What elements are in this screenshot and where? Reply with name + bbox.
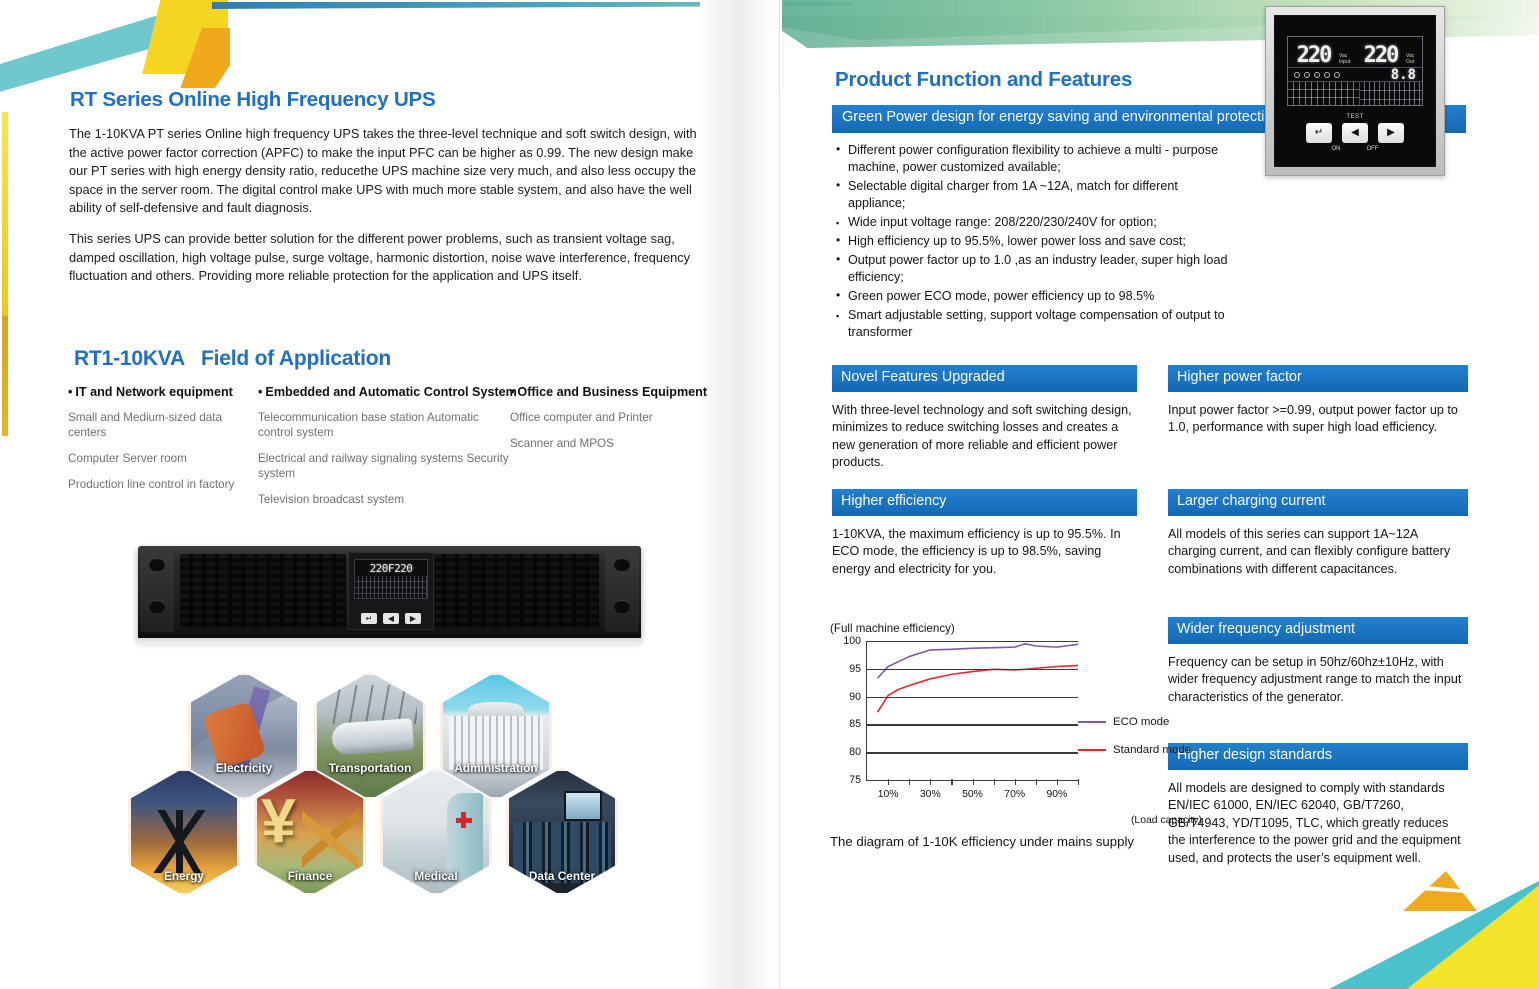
chart-gridline [867, 697, 1078, 698]
chart-x-tick [1036, 779, 1037, 785]
lcd-output-voltage: 220 [1355, 45, 1406, 67]
page-title-left: RT Series Online High Frequency UPS [70, 88, 436, 112]
lcd-input-unit-label: VacInput [1339, 54, 1355, 67]
lcd-status-dot-icon [1324, 72, 1330, 78]
application-column-heading-text: IT and Network equipment [75, 385, 232, 399]
chart-x-tick [994, 779, 995, 785]
chart-legend-item: ECO mode [1078, 716, 1198, 728]
chart-legend-swatch [1078, 749, 1106, 751]
chart-gridline [867, 641, 1078, 642]
lcd-left-button[interactable]: ◀ [1342, 123, 1368, 143]
green-power-bullet: High efficiency up to 95.5%, lower power… [835, 233, 1235, 250]
government-building-photo-icon [443, 675, 549, 797]
lcd-status-dot-icon [1314, 72, 1320, 78]
ups-lcd-panel-image: 220 VacInput 220 VacOut 8.8 [1265, 6, 1445, 176]
feature-box-body: Frequency can be setup in 50hz/60hz±10Hz… [1168, 654, 1468, 707]
chart-legend-swatch [1078, 721, 1106, 723]
chart-title: (Full machine efficiency) [830, 622, 1140, 635]
application-column-heading-text: Embedded and Automatic Control System [265, 385, 516, 399]
application-column-heading-text: Office and Business Equipment [517, 385, 707, 399]
intro-paragraph-2: This series UPS can provide better solut… [69, 230, 709, 286]
application-model: RT1-10KVA [74, 347, 185, 370]
rack-lcd-value-right: 220 [394, 562, 412, 575]
chart-gridline [867, 752, 1078, 753]
feature-box-body: Input power factor >=0.99, output power … [1168, 402, 1468, 437]
lcd-button-row: ↵ ◀ ▶ [1275, 123, 1435, 143]
brochure-page: RT Series Online High Frequency UPS The … [0, 0, 1539, 989]
chart-x-tick [1015, 779, 1016, 785]
lcd-load-bars-icon [1360, 82, 1422, 105]
feature-box-body: All models of this series can support 1A… [1168, 526, 1468, 579]
chart-y-tick-label: 100 [831, 635, 861, 647]
feature-box-title: Wider frequency adjustment [1168, 617, 1468, 644]
lcd-right-button[interactable]: ▶ [1378, 123, 1404, 143]
chart-caption: The diagram of 1-10K efficiency under ma… [830, 834, 1140, 849]
lcd-flow-diagram [1288, 81, 1422, 105]
feature-box-title: Higher efficiency [832, 489, 1137, 516]
application-item: Telecommunication base station Automatic… [258, 410, 510, 440]
hex-tile-label: Administration [443, 761, 549, 775]
hex-tile-label: Electricity [191, 761, 297, 775]
lcd-output-unit-label: VacOut [1406, 54, 1422, 67]
application-item: Small and Medium-sized data centers [68, 410, 258, 440]
chart-x-tick-label: 50% [962, 789, 983, 800]
chart-y-tick-label: 90 [831, 691, 861, 703]
application-item: Computer Server room [68, 451, 258, 466]
green-power-bullet: Smart adjustable setting, support voltag… [835, 307, 1235, 341]
rack-left-button[interactable]: ◀ [383, 613, 399, 624]
feature-box-larger-charging-current: Larger charging current All models of th… [1168, 489, 1468, 578]
high-speed-train-photo-icon [317, 675, 423, 797]
rack-vent-grille-right [433, 554, 599, 628]
chart-legend-item: Standard mode [1078, 744, 1198, 756]
chart-x-tick-label: 90% [1046, 789, 1067, 800]
feature-box-higher-design-standards: Higher design standards All models are d… [1168, 743, 1468, 867]
application-column-heading: •IT and Network equipment [68, 385, 258, 399]
chart-x-axis-title: (Load capacity) [1131, 815, 1202, 826]
factory-robot-photo-icon [191, 675, 297, 797]
application-column-it: •IT and Network equipment Small and Medi… [68, 385, 258, 518]
chart-y-tick-label: 80 [831, 746, 861, 758]
chart-y-tick-label: 95 [831, 663, 861, 675]
application-column-office: •Office and Business Equipment Office co… [510, 385, 710, 518]
chart-plot-wrapper: 758085909510010%30%50%70%90% ECO modeSta… [830, 641, 1140, 806]
green-power-bullet: Output power factor up to 1.0 ,as an ind… [835, 252, 1235, 286]
right-page: Product Function and Features Green Powe… [780, 0, 1539, 989]
application-item: Scanner and MPOS [510, 436, 710, 451]
chart-x-tick-label: 10% [878, 789, 899, 800]
bullet-dot-icon: • [258, 385, 262, 399]
lcd-panel-bezel: 220 VacInput 220 VacOut 8.8 [1265, 6, 1445, 176]
chart-legend-label: Standard mode [1113, 744, 1191, 756]
application-image-gallery: Electricity Transportation Administratio… [128, 668, 656, 920]
chart-series-line [878, 644, 1078, 678]
feature-box-title: Novel Features Upgraded [832, 365, 1137, 392]
rack-mount-ear-left [140, 548, 174, 632]
lcd-status-dot-icon [1294, 72, 1300, 78]
chart-x-tick [973, 779, 974, 785]
chart-gridline [867, 724, 1078, 725]
lcd-display: 220 VacInput 220 VacOut 8.8 [1287, 36, 1423, 106]
feature-box-body: With three-level technology and soft swi… [832, 402, 1137, 472]
lcd-onoff-labels: ON OFF [1275, 146, 1435, 152]
application-columns: •IT and Network equipment Small and Medi… [68, 385, 713, 518]
chart-x-tick [888, 779, 889, 785]
rack-right-button[interactable]: ▶ [405, 613, 421, 624]
chart-plot-area: 758085909510010%30%50%70%90% [866, 641, 1078, 781]
chart-legend: ECO modeStandard mode [1078, 716, 1198, 772]
chart-series-svg [867, 641, 1078, 780]
chart-x-tick [930, 779, 931, 785]
application-heading: RT1-10KVAField of Application [74, 347, 391, 371]
efficiency-chart-block: (Full machine efficiency) 75808590951001… [830, 622, 1140, 849]
lcd-power-path-icon [1288, 82, 1360, 105]
feature-box-body: All models are designed to comply with s… [1168, 780, 1468, 868]
chart-x-tick [951, 779, 952, 785]
hex-tile-label: Finance [257, 869, 363, 883]
rack-lcd-value-left: 220F [370, 562, 395, 575]
lcd-test-label: TEST [1275, 114, 1435, 120]
lcd-off-label: OFF [1367, 146, 1379, 152]
intro-paragraph-1: The 1-10KVA PT series Online high freque… [69, 125, 709, 218]
left-page: RT Series Online High Frequency UPS The … [0, 0, 700, 989]
chart-gridline [867, 669, 1078, 670]
hex-tile-label: Transportation [317, 761, 423, 775]
bullet-dot-icon: • [68, 385, 72, 399]
rack-screw-hole [149, 558, 165, 571]
feature-box-novel-features: Novel Features Upgraded With three-level… [832, 365, 1137, 472]
rack-lcd-digits: 220F220 [355, 560, 427, 575]
application-item: Production line control in factory [68, 477, 258, 492]
rack-screw-hole [614, 558, 630, 571]
application-column-heading: •Embedded and Automatic Control System [258, 385, 510, 399]
feature-box-title: Larger charging current [1168, 489, 1468, 516]
bullet-dot-icon: • [510, 385, 514, 399]
chart-y-tick-label: 85 [831, 718, 861, 730]
chart-y-tick-label: 75 [831, 774, 861, 786]
rack-base-plinth [138, 638, 641, 645]
lcd-status-dot-icon [1304, 72, 1310, 78]
application-column-embedded: •Embedded and Automatic Control System T… [258, 385, 510, 518]
feature-box-higher-power-factor: Higher power factor Input power factor >… [1168, 365, 1468, 437]
chart-x-tick [909, 779, 910, 785]
rack-mount-ear-right [605, 548, 639, 632]
lcd-control-area: TEST ↵ ◀ ▶ ON OFF [1275, 114, 1435, 152]
lcd-on-label: ON [1332, 146, 1341, 152]
application-title-text: Field of Application [201, 347, 391, 370]
application-item: Television broadcast system [258, 492, 510, 507]
lcd-input-voltage: 220 [1288, 45, 1339, 67]
feature-box-higher-efficiency: Higher efficiency 1-10KVA, the maximum e… [832, 489, 1137, 578]
feature-box-body: 1-10KVA, the maximum efficiency is up to… [832, 526, 1137, 579]
rack-button-row: ↵ ◀ ▶ [355, 613, 427, 624]
rack-screw-hole [614, 600, 630, 613]
green-power-bullet: Wide input voltage range: 208/220/230/24… [835, 214, 1235, 231]
rack-lcd-screen: 220F220 [354, 559, 428, 599]
chart-x-tick [1078, 779, 1079, 785]
chart-x-tick-label: 70% [1004, 789, 1025, 800]
application-column-heading: •Office and Business Equipment [510, 385, 710, 399]
feature-box-title: Higher design standards [1168, 743, 1468, 770]
green-power-bullet-list: Different power configuration flexibilit… [835, 142, 1235, 343]
lcd-panel-face: 220 VacInput 220 VacOut 8.8 [1274, 15, 1436, 167]
ups-rack-product-image: 220F220 ↵ ◀ ▶ [138, 546, 641, 640]
lcd-status-dot-icon [1334, 72, 1340, 78]
hex-tile-label: Energy [131, 869, 237, 883]
hex-tile-label: Medical [383, 869, 489, 883]
chart-x-tick-label: 30% [920, 789, 941, 800]
rack-enter-button[interactable]: ↵ [361, 613, 377, 624]
lcd-enter-button[interactable]: ↵ [1306, 123, 1332, 143]
hex-tile-data-center: Data Center [506, 768, 618, 896]
feature-box-wider-frequency-adjustment: Wider frequency adjustment Frequency can… [1168, 617, 1468, 706]
chart-series-line [878, 665, 1078, 712]
chart-x-tick [1057, 779, 1058, 785]
chart-legend-label: ECO mode [1113, 716, 1169, 728]
rack-control-panel: 220F220 ↵ ◀ ▶ [348, 552, 434, 630]
application-item: Electrical and railway signaling systems… [258, 451, 510, 481]
green-power-bullet: Selectable digital charger from 1A ~12A,… [835, 178, 1235, 212]
rack-lcd-status-icons [355, 576, 427, 598]
hex-tile-label: Data Center [509, 869, 615, 883]
feature-box-title: Higher power factor [1168, 365, 1468, 392]
page-title-right: Product Function and Features [835, 68, 1132, 92]
lcd-indicator-row: 8.8 [1288, 67, 1422, 81]
rack-vent-grille-left [180, 554, 346, 628]
green-power-bullet: Green power ECO mode, power efficiency u… [835, 288, 1235, 305]
application-item: Office computer and Printer [510, 410, 710, 425]
lcd-voltage-row: 220 VacInput 220 VacOut [1288, 37, 1422, 67]
green-power-bullet: Different power configuration flexibilit… [835, 142, 1235, 176]
intro-paragraphs: The 1-10KVA PT series Online high freque… [69, 125, 709, 286]
rack-screw-hole [149, 600, 165, 613]
